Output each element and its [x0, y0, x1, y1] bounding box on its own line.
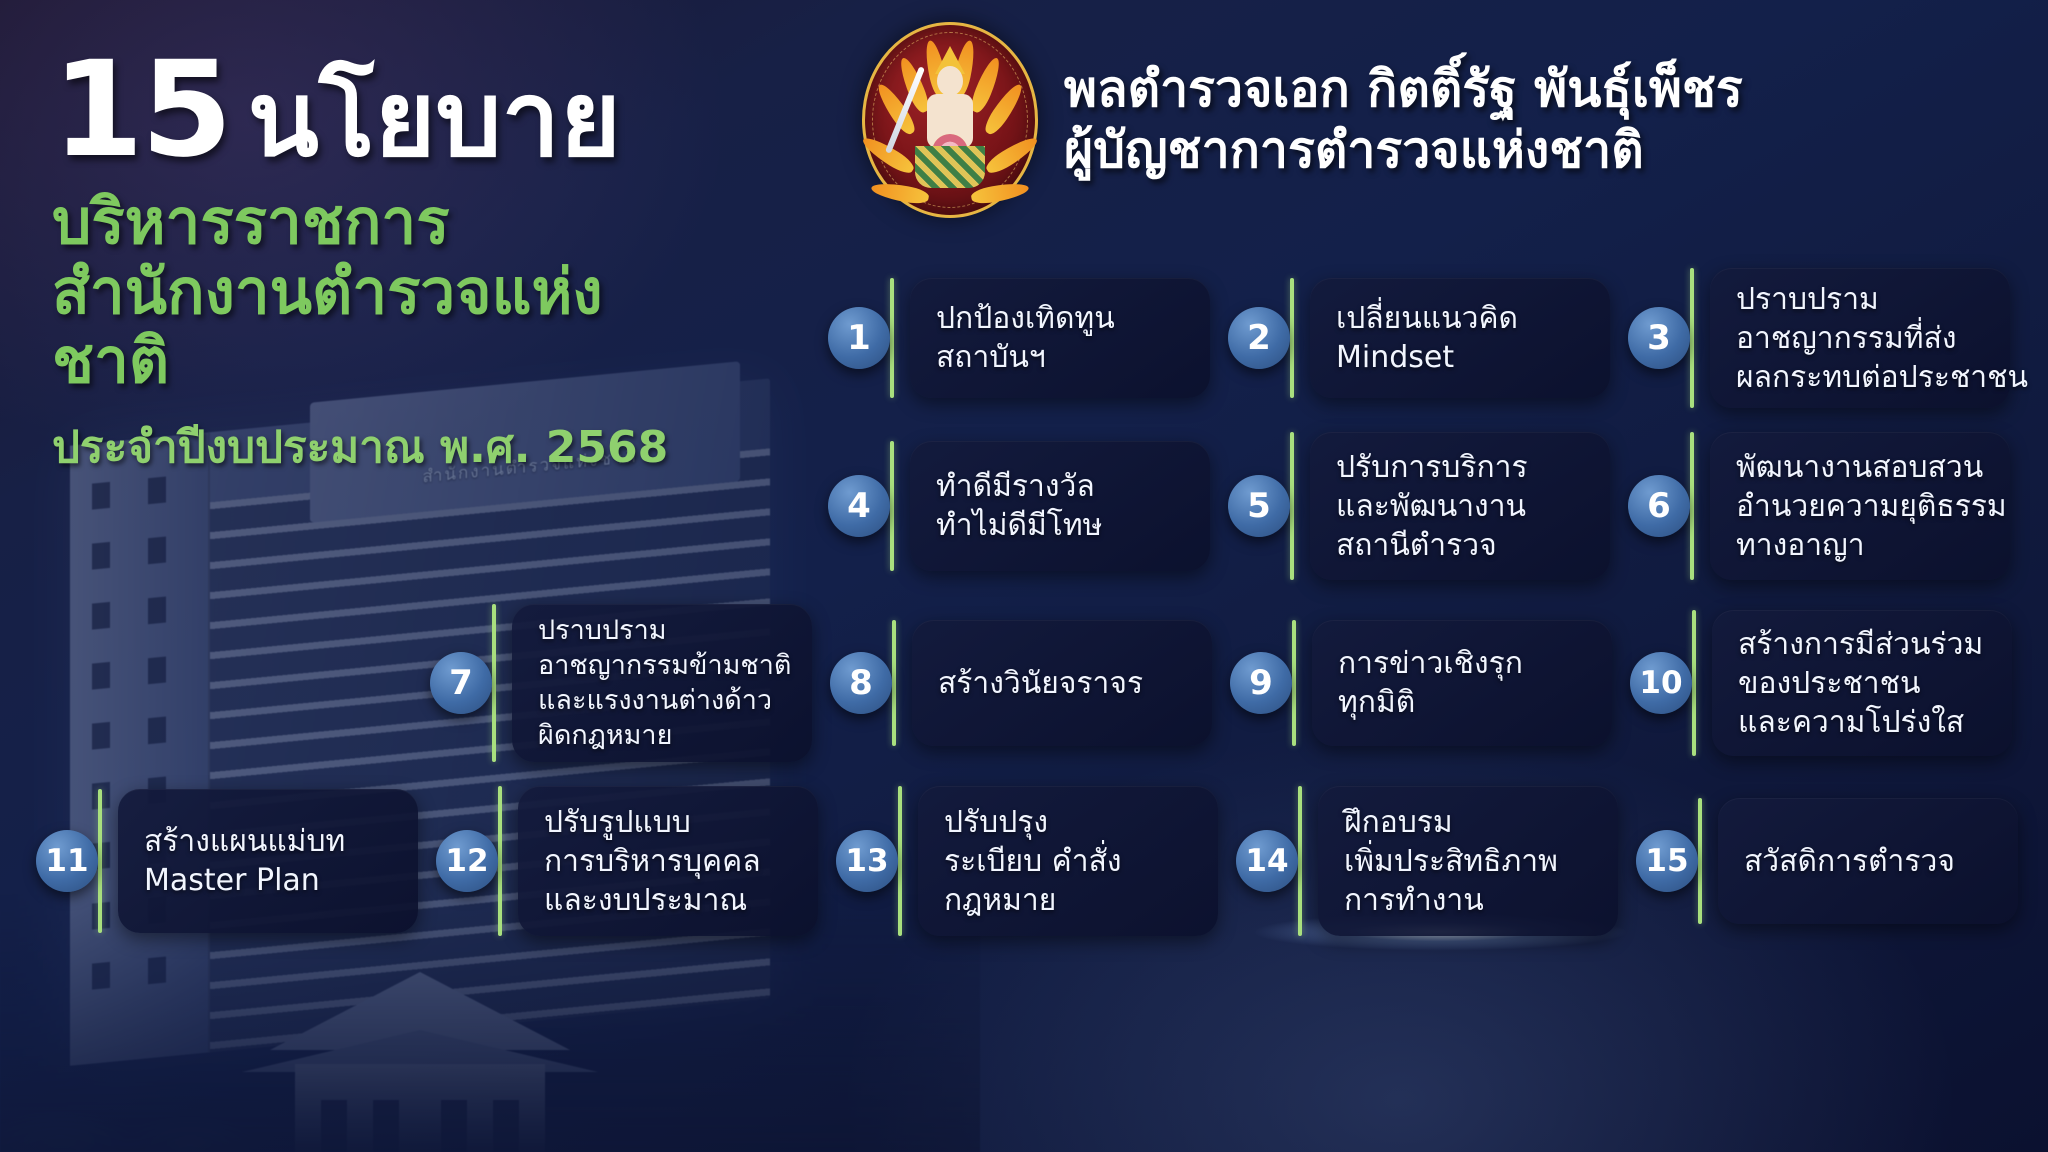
policy-text: ปราบปราม อาชญากรรมที่ส่ง ผลกระทบต่อประชา… — [1736, 280, 2028, 397]
policy-accent-bar — [1690, 268, 1694, 408]
royal-thai-police-emblem-icon — [862, 22, 1038, 218]
policy-number-badge: 4 — [828, 475, 890, 537]
policy-card[interactable]: ทำดีมีรางวัล ทำไม่ดีมีโทษ — [910, 441, 1210, 571]
policy-item-12[interactable]: 12 ปรับรูปแบบ การบริหารบุคคล และงบประมาณ — [436, 786, 818, 936]
policy-card[interactable]: สร้างแผนแม่บท Master Plan — [118, 789, 418, 933]
policy-text: พัฒนางานสอบสวน อำนวยความยุติธรรม ทางอาญา — [1736, 448, 2007, 565]
policy-card[interactable]: ปกป้องเทิดทูน สถาบันฯ — [910, 278, 1210, 398]
policy-item-3[interactable]: 3 ปราบปราม อาชญากรรมที่ส่ง ผลกระทบต่อประ… — [1628, 268, 2010, 408]
policy-number-badge: 13 — [836, 830, 898, 892]
policy-item-8[interactable]: 8 สร้างวินัยจราจร — [830, 620, 1212, 746]
policy-row-3: 7 ปราบปราม อาชญากรรมข้ามชาติ และแรงงานต่… — [0, 604, 2048, 762]
policy-number-badge: 12 — [436, 830, 498, 892]
policy-card[interactable]: ปรับปรุง ระเบียบ คำสั่ง กฎหมาย — [918, 786, 1218, 936]
policy-text: ปรับการบริการ และพัฒนางาน สถานีตำรวจ — [1336, 448, 1528, 565]
policy-item-2[interactable]: 2 เปลี่ยนแนวคิด Mindset — [1228, 278, 1610, 398]
policy-text: ทำดีมีรางวัล ทำไม่ดีมีโทษ — [936, 467, 1102, 545]
policy-accent-bar — [890, 278, 894, 398]
policy-row-4: 11 สร้างแผนแม่บท Master Plan 12 ปรับรูปแ… — [0, 786, 2048, 936]
policy-card[interactable]: ปราบปราม อาชญากรรมข้ามชาติ และแรงงานต่าง… — [512, 604, 812, 762]
policy-item-11[interactable]: 11 สร้างแผนแม่บท Master Plan — [36, 789, 418, 933]
policy-accent-bar — [1690, 432, 1694, 580]
policy-card[interactable]: พัฒนางานสอบสวน อำนวยความยุติธรรม ทางอาญา — [1710, 432, 2010, 580]
policy-number-badge: 10 — [1630, 652, 1692, 714]
headline-word: นโยบาย — [248, 70, 621, 169]
policy-item-4[interactable]: 4 ทำดีมีรางวัล ทำไม่ดีมีโทษ — [828, 441, 1210, 571]
policy-card[interactable]: สร้างการมีส่วนร่วม ของประชาชน และความโปร… — [1712, 610, 2012, 756]
policy-count: 15 — [52, 48, 230, 173]
policy-item-6[interactable]: 6 พัฒนางานสอบสวน อำนวยความยุติธรรม ทางอา… — [1628, 432, 2010, 580]
policy-item-10[interactable]: 10 สร้างการมีส่วนร่วม ของประชาชน และความ… — [1630, 610, 2012, 756]
policy-text: ปราบปราม อาชญากรรมข้ามชาติ และแรงงานต่าง… — [538, 613, 791, 753]
policy-number-badge: 15 — [1636, 830, 1698, 892]
policy-row-1: 1 ปกป้องเทิดทูน สถาบันฯ 2 เปลี่ยนแนวคิด … — [0, 268, 2048, 408]
policy-text: การข่าวเชิงรุก ทุกมิติ — [1338, 644, 1523, 722]
policy-number-badge: 3 — [1628, 307, 1690, 369]
policy-number-badge: 1 — [828, 307, 890, 369]
policy-card[interactable]: ฝึกอบรม เพิ่มประสิทธิภาพ การทำงาน — [1318, 786, 1618, 936]
headline-main: 15 นโยบาย — [52, 48, 692, 173]
policy-number-badge: 14 — [1236, 830, 1298, 892]
infographic-poster: สำนักงานตำรวจแห่งชาติ 15 นโยบาย บริหารรา… — [0, 0, 2048, 1152]
policy-accent-bar — [1292, 620, 1296, 746]
policy-accent-bar — [1298, 786, 1302, 936]
policy-text: เปลี่ยนแนวคิด Mindset — [1336, 299, 1518, 377]
officer-title-block: พลตำรวจเอก กิตติ์รัฐ พันธุ์เพ็ชร ผู้บัญช… — [1064, 59, 1743, 181]
policy-item-5[interactable]: 5 ปรับการบริการ และพัฒนางาน สถานีตำรวจ — [1228, 432, 1610, 580]
policy-item-9[interactable]: 9 การข่าวเชิงรุก ทุกมิติ — [1230, 620, 1612, 746]
policy-card[interactable]: สวัสดิการตำรวจ — [1718, 798, 2018, 924]
policy-number-badge: 6 — [1628, 475, 1690, 537]
policy-card[interactable]: การข่าวเชิงรุก ทุกมิติ — [1312, 620, 1612, 746]
policy-accent-bar — [1698, 798, 1702, 924]
headline-subtitle-line1: บริหารราชการ — [52, 187, 692, 256]
policy-card[interactable]: ปรับรูปแบบ การบริหารบุคคล และงบประมาณ — [518, 786, 818, 936]
policy-card[interactable]: สร้างวินัยจราจร — [912, 620, 1212, 746]
policy-item-7[interactable]: 7 ปราบปราม อาชญากรรมข้ามชาติ และแรงงานต่… — [430, 604, 812, 762]
policy-accent-bar — [498, 786, 502, 936]
policy-text: สร้างวินัยจราจร — [938, 664, 1143, 703]
policy-item-14[interactable]: 14 ฝึกอบรม เพิ่มประสิทธิภาพ การทำงาน — [1236, 786, 1618, 936]
policy-card[interactable]: เปลี่ยนแนวคิด Mindset — [1310, 278, 1610, 398]
policy-card[interactable]: ปราบปราม อาชญากรรมที่ส่ง ผลกระทบต่อประชา… — [1710, 268, 2010, 408]
policy-row-2: 4 ทำดีมีรางวัล ทำไม่ดีมีโทษ 5 ปรับการบริ… — [0, 432, 2048, 580]
trees-silhouette — [0, 1032, 300, 1152]
policy-item-15[interactable]: 15 สวัสดิการตำรวจ — [1636, 798, 2018, 924]
policy-number-badge: 7 — [430, 652, 492, 714]
policy-accent-bar — [898, 786, 902, 936]
policy-accent-bar — [1290, 278, 1294, 398]
policy-accent-bar — [492, 604, 496, 762]
policy-text: ปรับรูปแบบ การบริหารบุคคล และงบประมาณ — [544, 803, 761, 920]
policy-text: สร้างการมีส่วนร่วม ของประชาชน และความโปร… — [1738, 625, 1983, 742]
policy-item-13[interactable]: 13 ปรับปรุง ระเบียบ คำสั่ง กฎหมาย — [836, 786, 1218, 936]
policy-accent-bar — [98, 789, 102, 933]
policy-accent-bar — [1692, 610, 1696, 756]
policy-grid: 1 ปกป้องเทิดทูน สถาบันฯ 2 เปลี่ยนแนวคิด … — [0, 268, 2048, 960]
policy-number-badge: 8 — [830, 652, 892, 714]
policy-card[interactable]: ปรับการบริการ และพัฒนางาน สถานีตำรวจ — [1310, 432, 1610, 580]
brand-block: พลตำรวจเอก กิตติ์รัฐ พันธุ์เพ็ชร ผู้บัญช… — [862, 22, 1743, 218]
pavilion — [240, 972, 600, 1152]
policy-number-badge: 2 — [1228, 307, 1290, 369]
policy-number-badge: 5 — [1228, 475, 1290, 537]
policy-number-badge: 9 — [1230, 652, 1292, 714]
officer-position: ผู้บัญชาการตำรวจแห่งชาติ — [1064, 120, 1743, 181]
policy-accent-bar — [892, 620, 896, 746]
policy-text: ฝึกอบรม เพิ่มประสิทธิภาพ การทำงาน — [1344, 803, 1558, 920]
officer-name: พลตำรวจเอก กิตติ์รัฐ พันธุ์เพ็ชร — [1064, 59, 1743, 120]
policy-item-1[interactable]: 1 ปกป้องเทิดทูน สถาบันฯ — [828, 278, 1210, 398]
policy-text: ปกป้องเทิดทูน สถาบันฯ — [936, 299, 1115, 377]
policy-accent-bar — [890, 441, 894, 571]
policy-text: สวัสดิการตำรวจ — [1744, 842, 1955, 881]
policy-number-badge: 11 — [36, 830, 98, 892]
policy-text: สร้างแผนแม่บท Master Plan — [144, 822, 345, 900]
policy-text: ปรับปรุง ระเบียบ คำสั่ง กฎหมาย — [944, 803, 1122, 920]
policy-accent-bar — [1290, 432, 1294, 580]
